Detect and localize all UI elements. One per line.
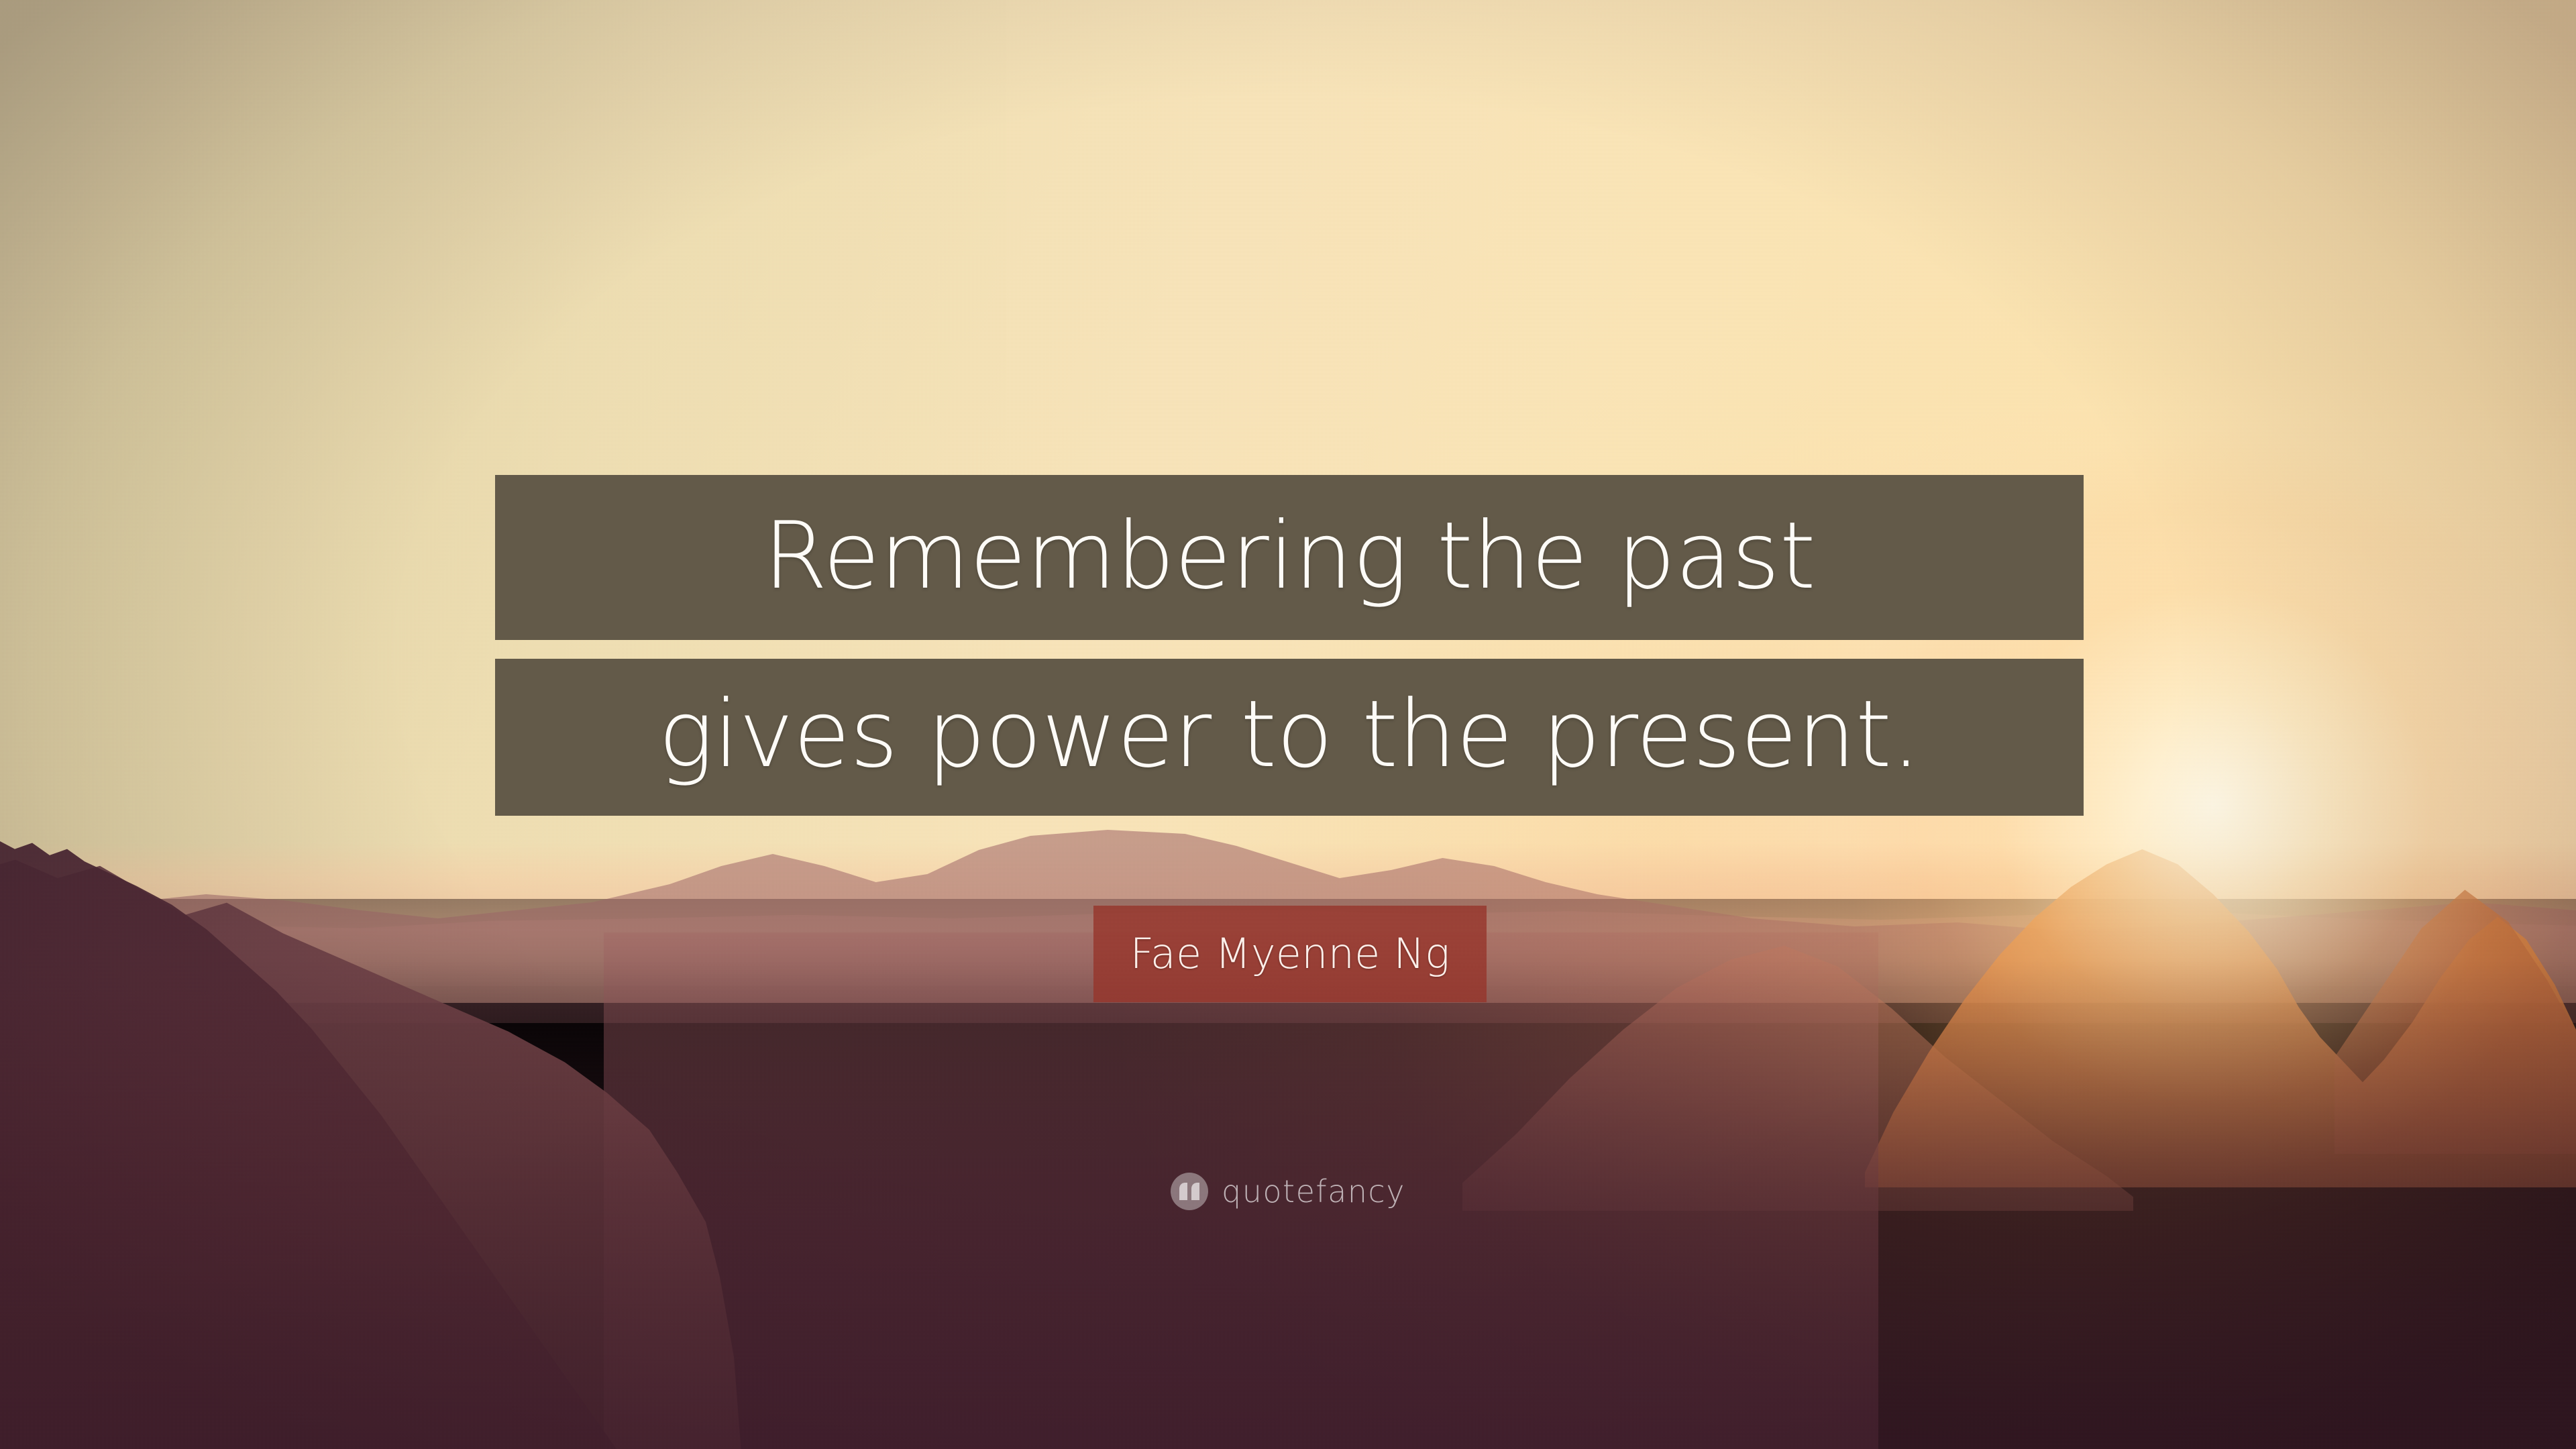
author-attribution-box: Fae Myenne Ng bbox=[1093, 906, 1487, 1002]
quotefancy-brand-text: quotefancy bbox=[1222, 1176, 1405, 1207]
author-name: Fae Myenne Ng bbox=[1130, 933, 1450, 975]
quote-mark-icon bbox=[1171, 1173, 1208, 1210]
wallpaper-canvas: Remembering the past gives power to the … bbox=[0, 0, 2576, 1449]
quotefancy-watermark[interactable]: quotefancy bbox=[0, 1173, 2576, 1210]
quote-line-1: Remembering the past bbox=[495, 475, 2084, 640]
quote-block: Remembering the past gives power to the … bbox=[495, 475, 2084, 816]
quote-line-2: gives power to the present. bbox=[495, 659, 2084, 816]
